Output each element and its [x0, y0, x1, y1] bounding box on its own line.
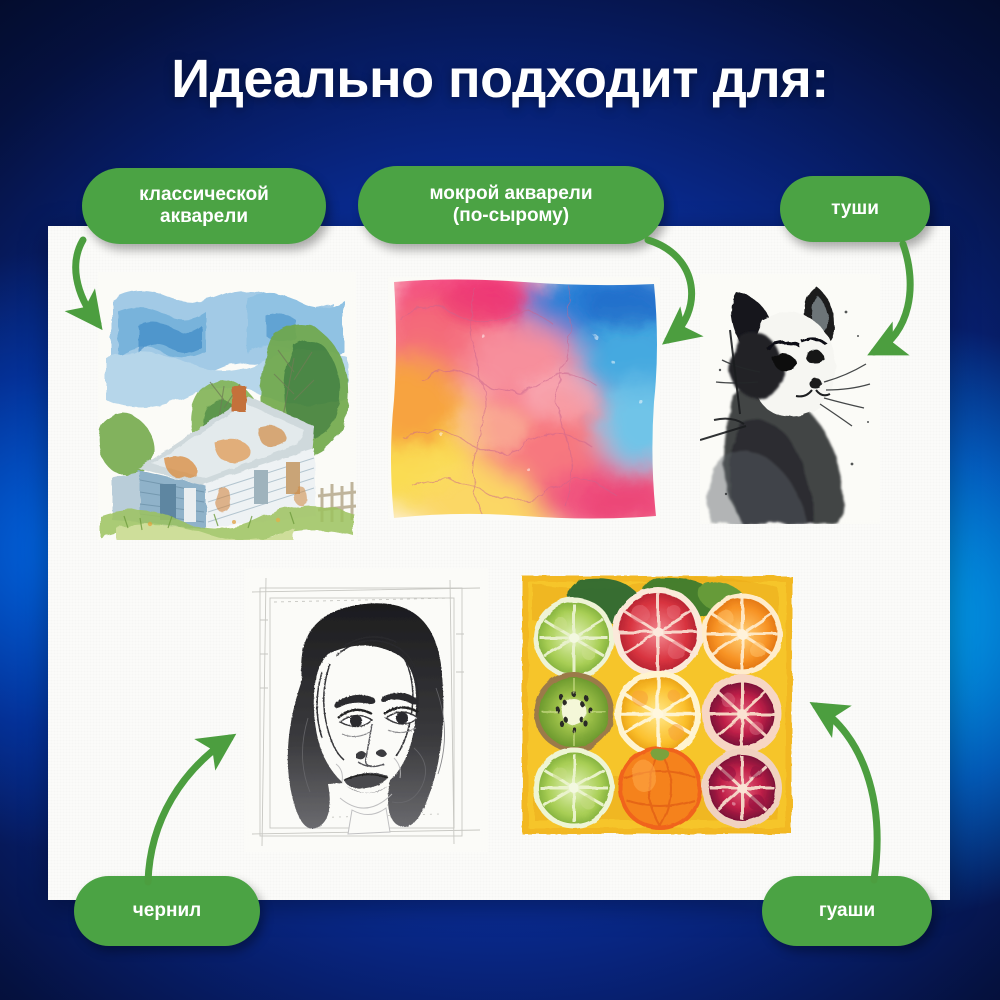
arrow-path-ink-chernila [148, 738, 230, 882]
arrow-path-gouache [816, 706, 877, 880]
arrow-classic-watercolor [0, 0, 1000, 1000]
infographic-canvas: Идеально подходит для: Акварельный пейза… [0, 0, 1000, 1000]
arrow-path-classic-watercolor [76, 240, 98, 324]
arrow-path-ink-tush [874, 244, 910, 352]
arrow-path-wet-watercolor [648, 240, 692, 340]
